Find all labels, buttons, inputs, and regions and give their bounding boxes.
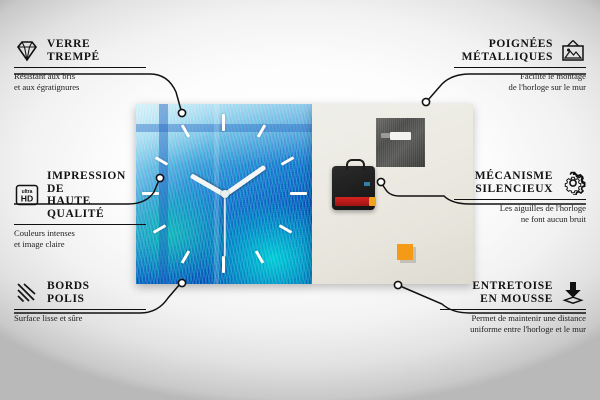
ultra-hd-icon: ultra HD [14,183,40,207]
callout-description: Permet de maintenir une distanceuniforme… [440,313,586,334]
polished-edge-lines-icon [14,281,40,305]
metal-hanger-plate [376,118,425,167]
callout-rule [454,199,586,200]
hanger-slot [390,132,411,140]
quartz-mechanism [332,166,375,210]
callout-description: Surface lisse et sûre [14,313,146,323]
callout-description: Les aiguilles de l'horlogene font aucun … [454,203,586,224]
callout-entretoise-en-mousse: ENTRETOISEEN MOUSSE Permet de maintenir … [440,280,586,334]
svg-text:HD: HD [21,194,33,204]
product-photo-group [136,104,473,284]
picture-hanger-icon [560,39,586,63]
infographic-canvas: VERRETREMPÉ Résistant aux briset aux égr… [0,0,600,400]
callout-rule [14,224,146,225]
diamond-icon [14,39,40,63]
second-hand [224,195,226,257]
callout-rule [454,67,586,68]
callout-title: POIGNÉESMÉTALLIQUES [462,38,553,63]
callout-bords-polis: BORDSPOLIS Surface lisse et sûre [14,280,146,324]
callout-verre-trempe: VERRETREMPÉ Résistant aux briset aux égr… [14,38,146,92]
callout-title: ENTRETOISEEN MOUSSE [472,280,553,305]
foam-spacer-arrow-icon [560,281,586,305]
callout-description: Résistant aux briset aux égratignures [14,71,146,92]
callout-title: IMPRESSION DEHAUTE QUALITÉ [47,170,146,220]
mechanism-label [364,182,370,186]
callout-header: ENTRETOISEEN MOUSSE [440,280,586,305]
callout-header: VERRETREMPÉ [14,38,146,63]
callout-title: BORDSPOLIS [47,280,90,305]
callout-header: POIGNÉESMÉTALLIQUES [454,38,586,63]
callout-rule [14,309,146,310]
clock-back-panel [312,104,473,284]
callout-poignees-metalliques: POIGNÉESMÉTALLIQUES Facilite le montaged… [454,38,586,92]
callout-title: VERRETREMPÉ [47,38,100,63]
battery-terminal [369,197,376,206]
clock-center-pin [221,190,229,198]
callout-header: MÉCANISMESILENCIEUX [454,170,586,195]
pattern-line-vertical [159,104,168,284]
callout-mecanisme-silencieux: MÉCANISMESILENCIEUX [454,170,586,224]
callout-header: ultra HD IMPRESSION DEHAUTE QUALITÉ [14,170,146,220]
foam-spacer-pad [397,244,413,260]
gear-icon [560,171,586,195]
callout-impression-haute-qualite: ultra HD IMPRESSION DEHAUTE QUALITÉ Coul… [14,170,146,249]
hanger-slot-secondary [381,133,390,138]
callout-description: Couleurs intenseset image claire [14,228,146,249]
minute-hand [223,165,267,198]
callout-rule [440,309,586,310]
hour-hand [190,173,225,196]
mechanism-hanging-loop [346,159,365,170]
battery [335,197,369,206]
callout-header: BORDSPOLIS [14,280,146,305]
callout-description: Facilite le montagede l'horloge sur le m… [454,71,586,92]
clock-front-face [136,104,312,284]
callout-title: MÉCANISMESILENCIEUX [475,170,553,195]
callout-rule [14,67,146,68]
